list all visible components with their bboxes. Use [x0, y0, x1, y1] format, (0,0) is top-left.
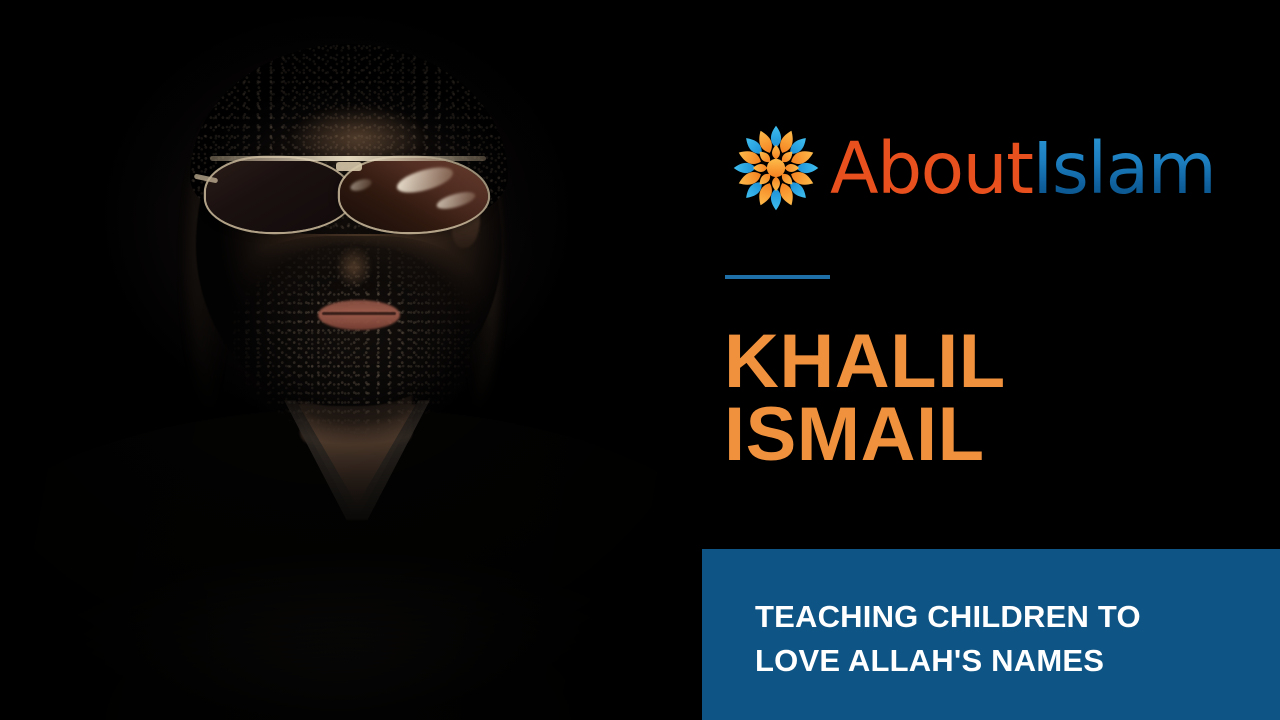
title-line-2: LOVE ALLAH'S NAMES [755, 639, 1255, 683]
title-line-1: TEACHING CHILDREN TO [755, 595, 1255, 639]
nostril-left [330, 282, 343, 290]
speaker-first-name: KHALIL [724, 326, 1264, 399]
logo-word-about: About [830, 127, 1032, 210]
speaker-portrait-photo [0, 0, 702, 720]
sunglasses-icon [200, 150, 492, 242]
nostril-right [362, 282, 375, 290]
speaker-name: KHALIL ISMAIL [724, 326, 1264, 472]
mouth [318, 300, 400, 330]
flower-mandala-icon [728, 120, 824, 216]
logo-word-islam: Islam [1032, 127, 1215, 210]
video-thumbnail-card: AboutIslam KHALIL ISMAIL TEACHING CHILDR… [0, 0, 1280, 720]
aboutislam-logo[interactable]: AboutIslam [728, 120, 1215, 216]
title-banner: TEACHING CHILDREN TO LOVE ALLAH'S NAMES [702, 549, 1280, 720]
sunglasses-brow-bar [210, 156, 486, 161]
accent-divider [725, 275, 830, 279]
info-panel: AboutIslam KHALIL ISMAIL TEACHING CHILDR… [702, 0, 1280, 720]
title-banner-text: TEACHING CHILDREN TO LOVE ALLAH'S NAMES [755, 595, 1255, 683]
sunglasses-bridge [336, 162, 362, 171]
logo-wordmark: AboutIslam [830, 133, 1215, 204]
sunglasses-lens-left [206, 158, 352, 232]
speaker-last-name: ISMAIL [724, 399, 1264, 472]
lip-line [322, 312, 396, 315]
